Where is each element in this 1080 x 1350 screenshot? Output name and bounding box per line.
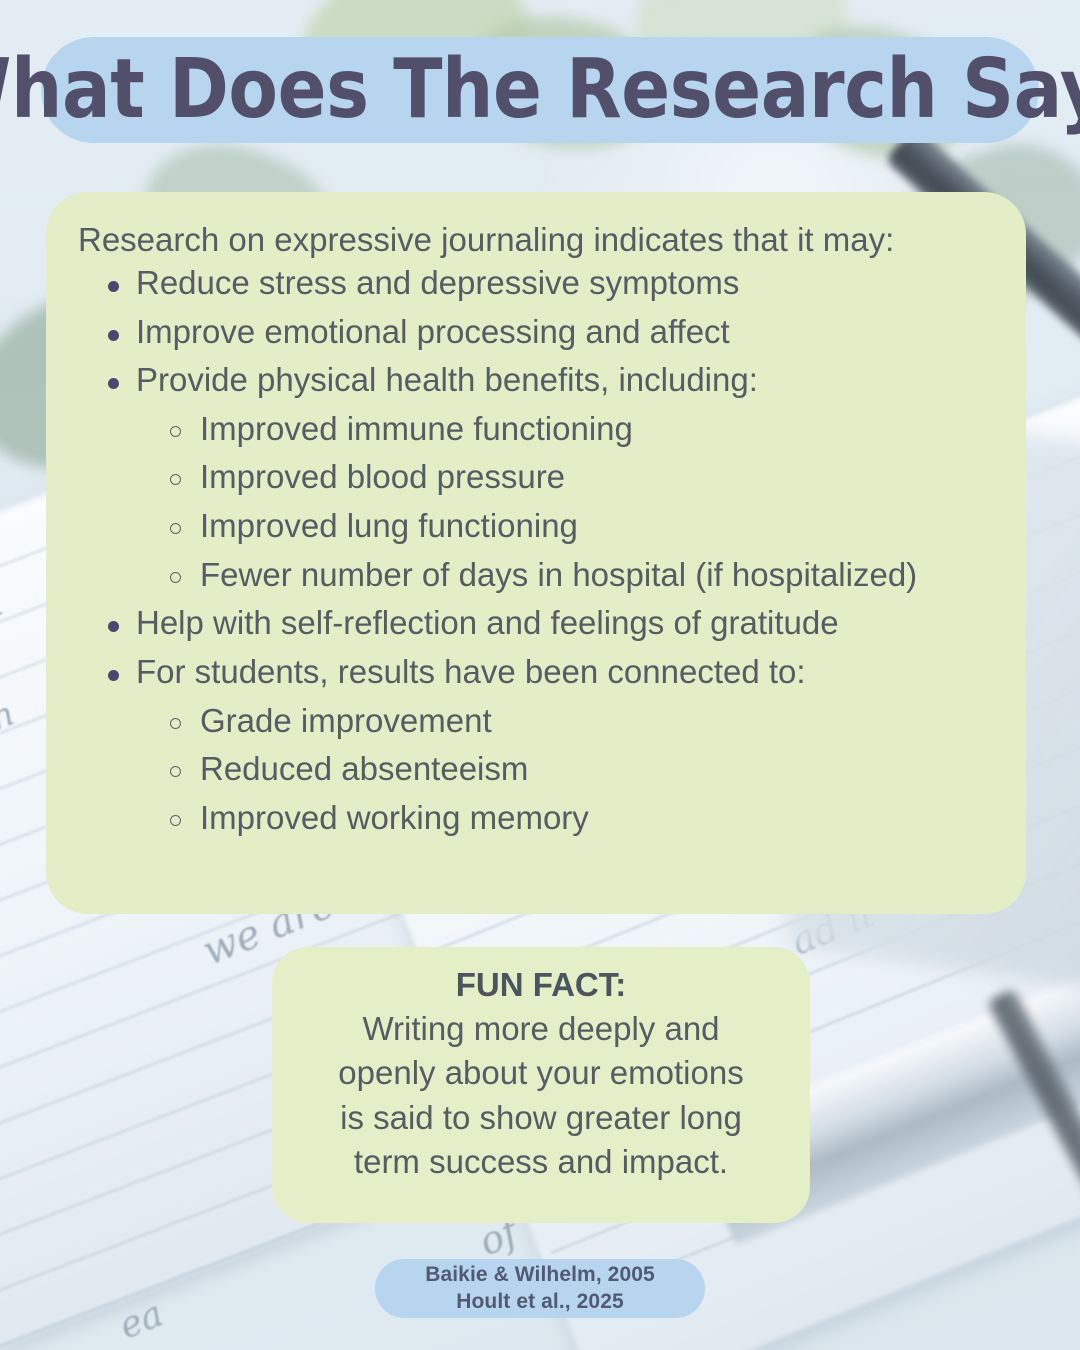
finding-subitem: Improved working memory (162, 800, 1006, 836)
finding-label: Improve emotional processing and affect (136, 313, 730, 350)
fun-fact-card: FUN FACT: Writing more deeply andopenly … (272, 947, 810, 1223)
finding-item: For students, results have been connecte… (100, 654, 1006, 836)
research-findings-card: Research on expressive journaling indica… (46, 192, 1026, 914)
finding-label: Provide physical health benefits, includ… (136, 361, 758, 398)
findings-list: Reduce stress and depressive symptomsImp… (64, 265, 1006, 836)
citation-badge: Baikie & Wilhelm, 2005Hoult et al., 2025 (375, 1259, 705, 1318)
finding-subitem: Improved immune functioning (162, 411, 1006, 447)
finding-subitem: Improved lung functioning (162, 508, 1006, 544)
citation-line: Baikie & Wilhelm, 2005 (425, 1262, 655, 1289)
fun-fact-line: term success and impact. (354, 1143, 728, 1180)
fun-fact-body: Writing more deeply andopenly about your… (298, 1007, 784, 1185)
finding-subitem: Reduced absenteeism (162, 751, 1006, 787)
finding-label: Reduce stress and depressive symptoms (136, 264, 739, 301)
finding-item: Help with self-reflection and feelings o… (100, 605, 1006, 641)
fun-fact-line: openly about your emotions (338, 1054, 743, 1091)
finding-subitem: Improved blood pressure (162, 459, 1006, 495)
infographic-poster: on Th we are an it ad it of ea What Does… (0, 0, 1080, 1350)
finding-label: Help with self-reflection and feelings o… (136, 604, 839, 641)
finding-subitem: Grade improvement (162, 703, 1006, 739)
fun-fact-heading: FUN FACT: (298, 963, 784, 1007)
fun-fact-line: Writing more deeply and (362, 1010, 719, 1047)
lead-paragraph: Research on expressive journaling indica… (64, 222, 1006, 259)
poster-content: What Does The Research Say? Research on … (0, 0, 1080, 1350)
finding-item: Provide physical health benefits, includ… (100, 362, 1006, 592)
page-title: What Does The Research Say? (0, 49, 1080, 131)
finding-label: For students, results have been connecte… (136, 653, 806, 690)
title-banner: What Does The Research Say? (41, 37, 1039, 143)
finding-sublist: Grade improvementReduced absenteeismImpr… (136, 703, 1006, 836)
finding-subitem: Fewer number of days in hospital (if hos… (162, 557, 1006, 593)
finding-item: Improve emotional processing and affect (100, 314, 1006, 350)
finding-sublist: Improved immune functioningImproved bloo… (136, 411, 1006, 593)
citation-line: Hoult et al., 2025 (456, 1289, 624, 1316)
finding-item: Reduce stress and depressive symptoms (100, 265, 1006, 301)
fun-fact-line: is said to show greater long (340, 1099, 742, 1136)
